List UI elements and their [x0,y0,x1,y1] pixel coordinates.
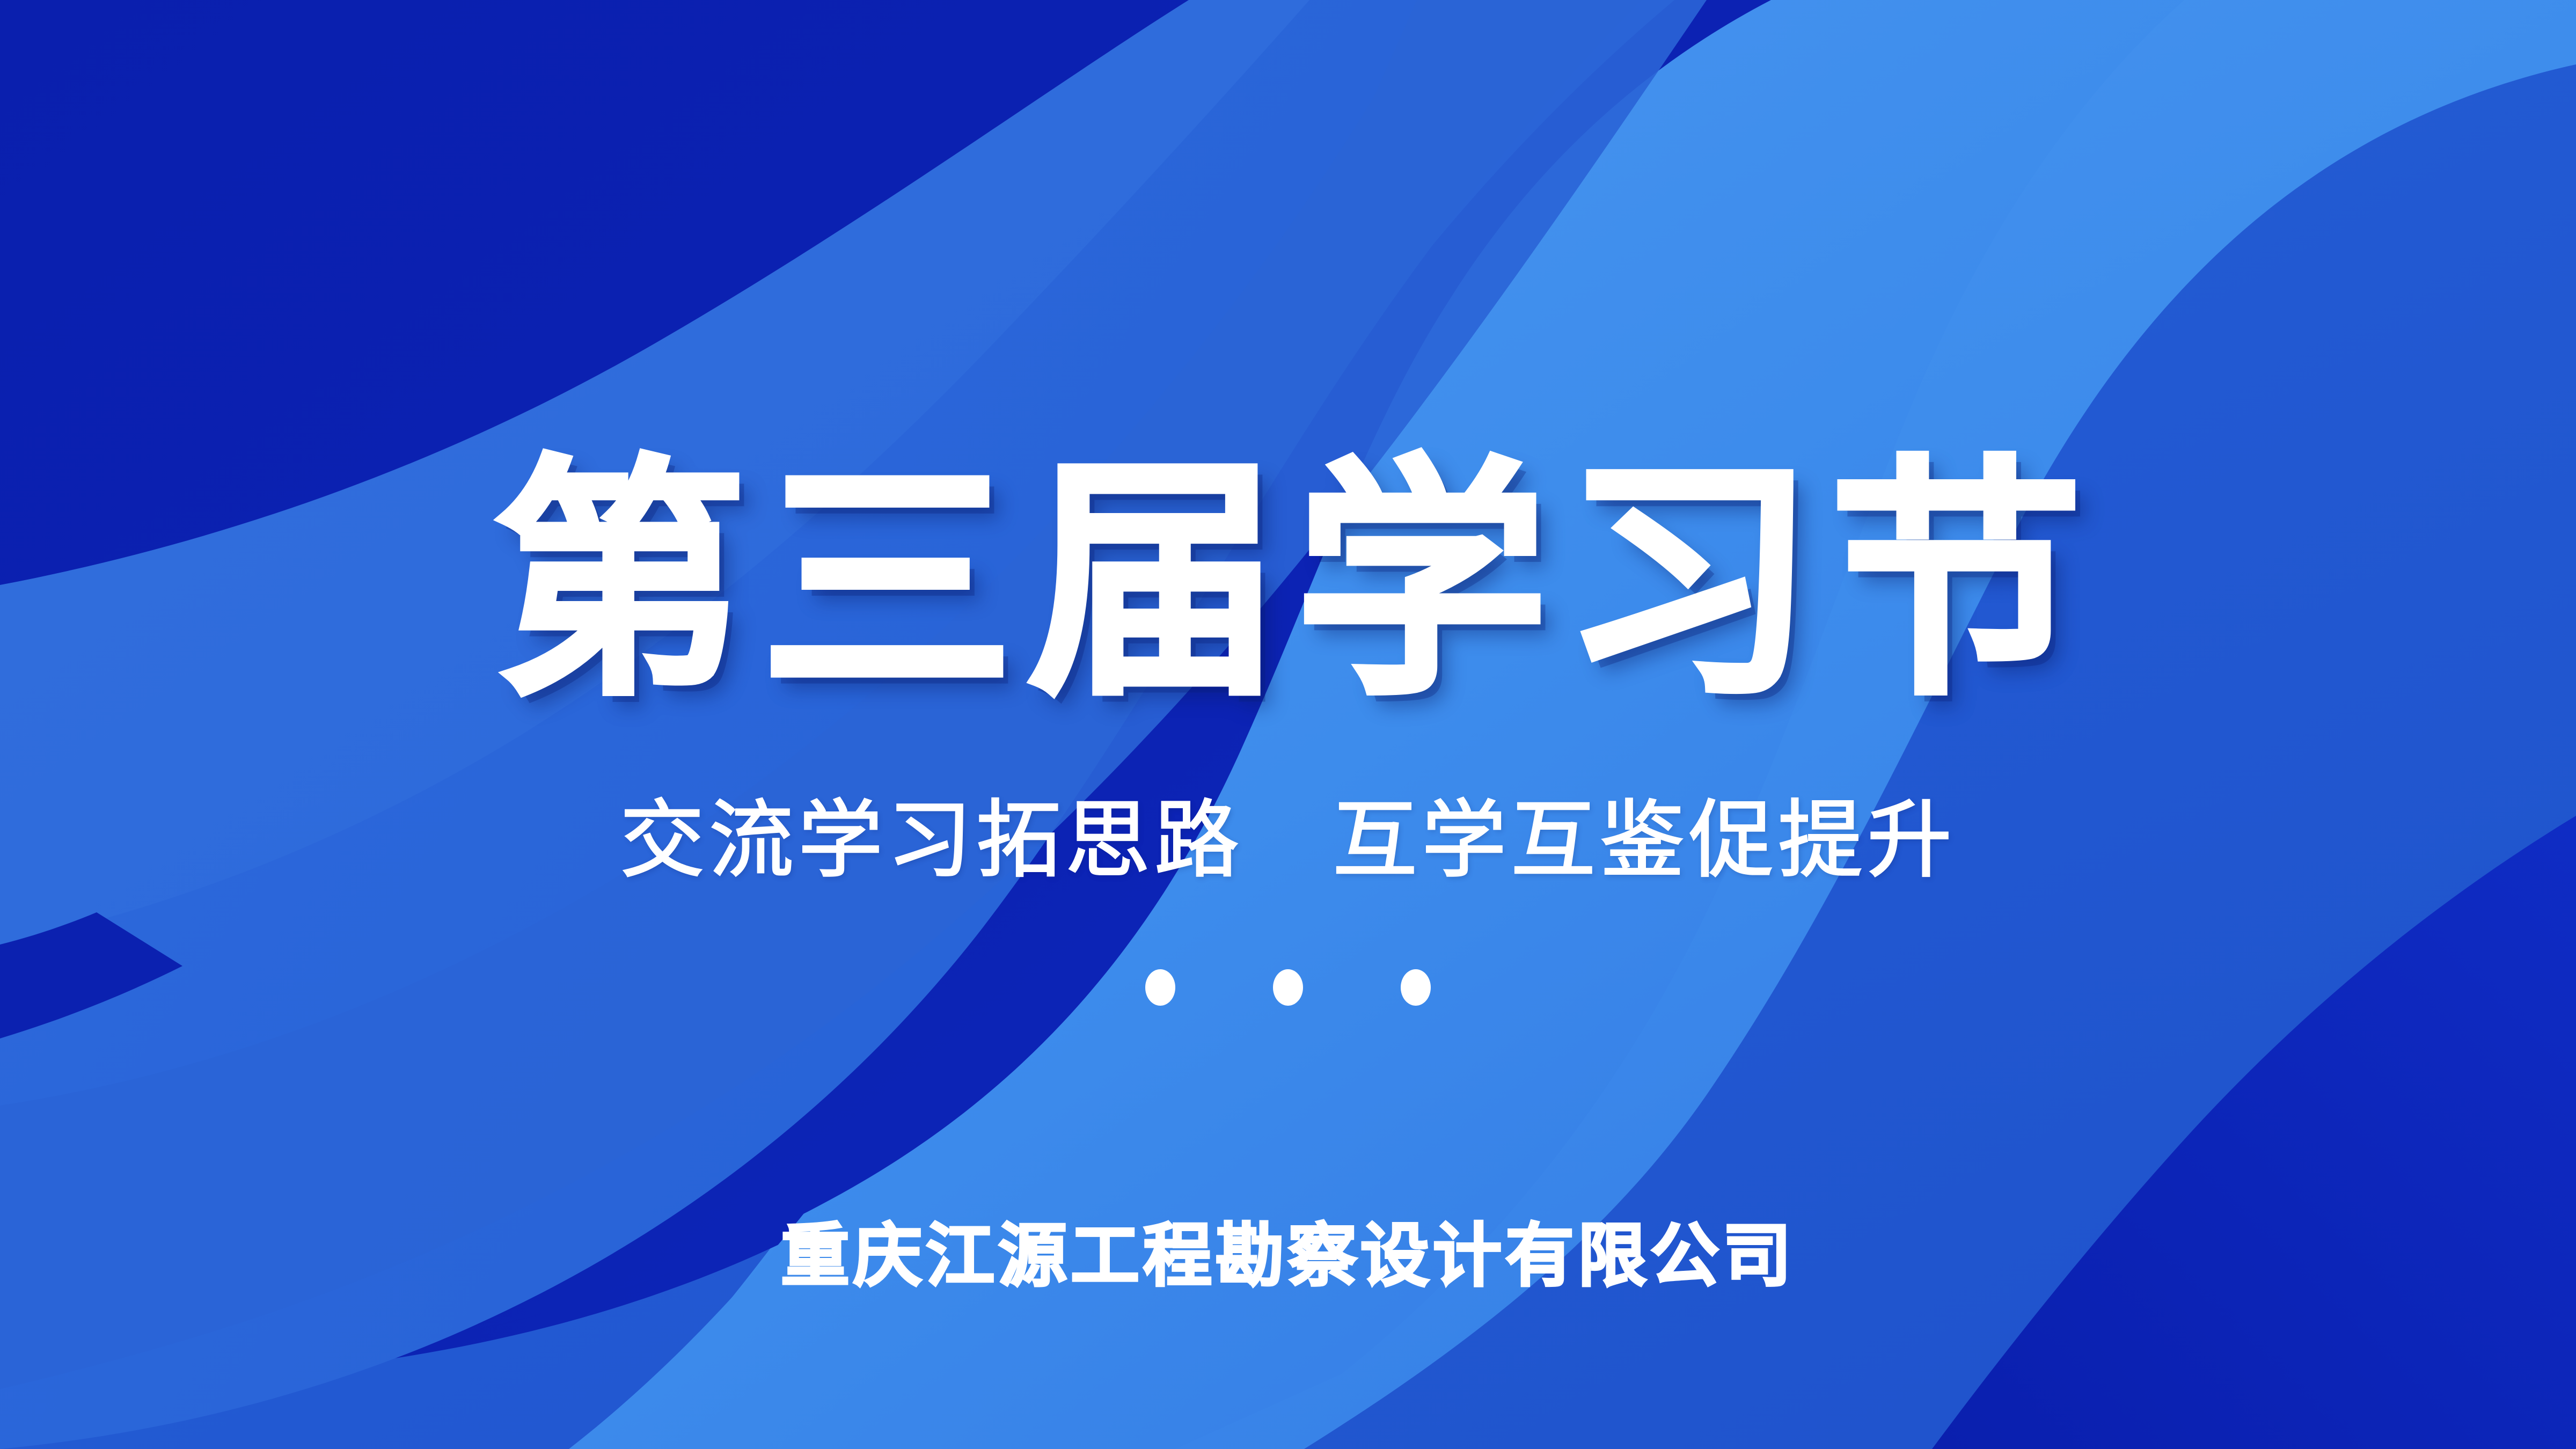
subtitle-block: 交流学习拓思路 互学互鉴促提升 [0,788,2576,894]
divider-dots [0,969,2576,1006]
dot-icon [1145,969,1175,1006]
poster-canvas: 第三届学习节 交流学习拓思路 互学互鉴促提升 重庆江源工程勘察设计有限公司 [0,0,2576,1449]
dot-icon [1401,969,1431,1006]
dot-icon [1273,969,1303,1006]
main-title: 第三届学习节 [479,456,2097,708]
main-title-block: 第三届学习节 [0,456,2576,708]
company-block: 重庆江源工程勘察设计有限公司 [0,1215,2576,1298]
subtitle: 交流学习拓思路 互学互鉴促提升 [620,788,1956,894]
company-name: 重庆江源工程勘察设计有限公司 [781,1215,1795,1298]
poster-content: 第三届学习节 交流学习拓思路 互学互鉴促提升 重庆江源工程勘察设计有限公司 [0,0,2576,1449]
